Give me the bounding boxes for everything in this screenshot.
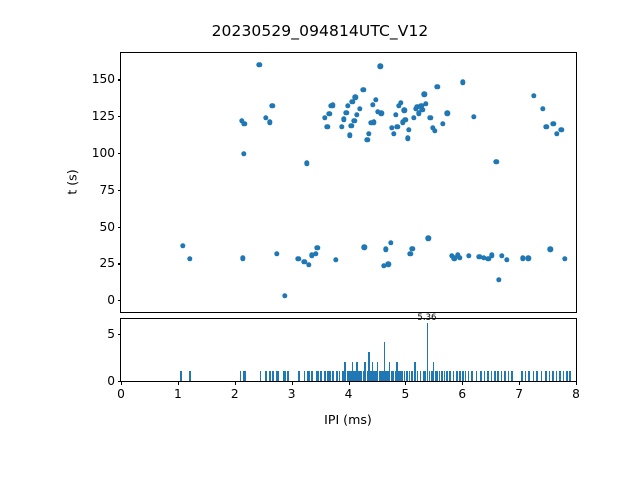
scatter-point	[388, 240, 393, 245]
histogram-bar	[504, 371, 506, 381]
histogram-bar	[189, 371, 191, 381]
histogram-bar	[339, 371, 341, 381]
histogram-bar	[494, 371, 496, 381]
y-tick-mark	[118, 190, 122, 191]
scatter-point	[326, 111, 331, 116]
scatter-point	[420, 107, 425, 112]
scatter-point	[180, 243, 185, 248]
scatter-point	[366, 131, 371, 136]
histogram-bar	[559, 371, 561, 381]
figure-title: 20230529_094814UTC_V12	[0, 22, 640, 40]
histogram-bar	[277, 371, 279, 381]
scatter-point	[471, 114, 476, 119]
x-tick-label: 8	[572, 387, 580, 401]
histogram-bar	[536, 371, 538, 381]
scatter-point	[494, 159, 499, 164]
scatter-point	[489, 253, 494, 258]
scatter-point	[408, 251, 413, 256]
histogram-bar	[476, 371, 478, 381]
histogram-bar	[533, 371, 535, 381]
scatter-point	[548, 247, 553, 252]
scatter-point	[270, 103, 275, 108]
scatter-point	[379, 111, 384, 116]
scatter-point	[445, 111, 450, 116]
scatter-point	[365, 137, 370, 142]
histogram-bar	[471, 371, 473, 381]
scatter-point	[373, 97, 378, 102]
histogram-bar	[468, 371, 470, 381]
histogram-bar	[406, 371, 408, 381]
matplotlib-figure: 20230529_094814UTC_V12 0255075100125150 …	[0, 0, 640, 480]
scatter-point	[240, 256, 245, 261]
histogram-bar	[491, 371, 493, 381]
scatter-point	[187, 256, 192, 261]
histogram-bar	[487, 371, 489, 381]
scatter-point	[353, 94, 358, 99]
scatter-point	[241, 151, 246, 156]
y-tick-label: 75	[99, 183, 115, 197]
scatter-point	[378, 64, 383, 69]
scatter-point	[371, 119, 376, 124]
histogram-bar	[563, 371, 565, 381]
x-tick-label: 4	[345, 387, 353, 401]
scatter-point	[411, 115, 416, 120]
y-tick-label: 50	[99, 220, 115, 234]
scatter-point	[559, 127, 564, 132]
scatter-point	[395, 124, 400, 129]
scatter-point	[313, 251, 318, 256]
histogram-bar	[446, 371, 448, 381]
histogram-bar	[566, 371, 568, 381]
scatter-point	[370, 102, 375, 107]
y-tick-mark	[118, 227, 122, 228]
scatter-point	[504, 257, 509, 262]
scatter-point	[306, 262, 311, 267]
scatter-point	[405, 136, 410, 141]
histogram-bar	[556, 371, 558, 381]
histogram-bar	[320, 371, 322, 381]
histogram-bar	[287, 371, 289, 381]
scatter-point	[339, 124, 344, 129]
y-tick-mark	[118, 300, 122, 301]
scatter-plot-axes: 0255075100125150	[120, 52, 577, 313]
y-tick-mark	[118, 153, 122, 154]
histogram-bar	[265, 371, 267, 381]
histogram-bar	[528, 371, 530, 381]
scatter-point	[423, 101, 428, 106]
histogram-bar	[511, 371, 513, 381]
scatter-point	[402, 108, 407, 113]
y-tick-label: 25	[99, 256, 115, 270]
histogram-bar	[324, 371, 326, 381]
x-tick-label: 7	[515, 387, 523, 401]
scatter-point	[350, 99, 355, 104]
scatter-point	[406, 127, 411, 132]
histogram-axes: 05012345678	[120, 318, 577, 382]
scatter-point	[457, 255, 462, 260]
scatter-point	[554, 131, 559, 136]
y-tick-mark	[118, 79, 122, 80]
histogram-bar	[414, 362, 416, 381]
y-tick-label: 150	[92, 72, 115, 86]
x-tick-mark	[349, 381, 350, 385]
histogram-bar	[465, 371, 467, 381]
scatter-point	[296, 256, 301, 261]
scatter-point	[389, 125, 394, 130]
x-axis-label: IPI (ms)	[324, 412, 372, 427]
y-tick-label: 125	[92, 109, 115, 123]
y-tick-mark	[118, 116, 122, 117]
histogram-bar	[521, 371, 523, 381]
scatter-point	[357, 106, 362, 111]
scatter-point	[409, 246, 414, 251]
histogram-bar	[304, 371, 306, 381]
scatter-point	[496, 277, 501, 282]
x-tick-mark	[121, 381, 122, 385]
scatter-point	[351, 118, 356, 123]
histogram-bar	[462, 371, 464, 381]
histogram-bar	[272, 371, 274, 381]
x-tick-label: 2	[231, 387, 239, 401]
histogram-bars-layer	[121, 319, 576, 381]
histogram-bar	[298, 371, 300, 381]
histogram-bar	[484, 371, 486, 381]
scatter-point	[391, 131, 396, 136]
y-tick-mark	[118, 263, 122, 264]
histogram-bar	[501, 371, 503, 381]
histogram-bar	[459, 371, 461, 381]
scatter-point	[383, 247, 388, 252]
histogram-bar	[311, 371, 313, 381]
histogram-bar	[497, 371, 499, 381]
histogram-bar	[420, 371, 422, 381]
scatter-point	[354, 112, 359, 117]
scatter-point	[531, 93, 536, 98]
x-tick-mark	[405, 381, 406, 385]
scatter-point	[520, 256, 525, 261]
scatter-point	[562, 256, 567, 261]
scatter-point	[386, 261, 391, 266]
histogram-bar	[180, 371, 182, 381]
scatter-point	[466, 253, 471, 258]
scatter-point	[526, 256, 531, 261]
scatter-point	[274, 251, 279, 256]
histogram-bar	[417, 371, 419, 381]
x-tick-label: 6	[458, 387, 466, 401]
scatter-point	[330, 103, 335, 108]
x-tick-mark	[462, 381, 463, 385]
histogram-bar	[552, 371, 554, 381]
histogram-bar	[439, 371, 441, 381]
x-tick-label: 3	[288, 387, 296, 401]
histogram-bar	[569, 371, 571, 381]
scatter-point	[344, 110, 349, 115]
scatter-point	[432, 128, 437, 133]
scatter-point	[440, 121, 445, 126]
histogram-bar	[525, 371, 527, 381]
peak-ipi-annotation: 5.36	[417, 313, 436, 323]
scatter-points-layer	[121, 53, 576, 312]
scatter-point	[551, 121, 556, 126]
scatter-point	[540, 106, 545, 111]
hist-y-tick-label: 0	[107, 374, 115, 388]
histogram-bar	[317, 371, 319, 381]
histogram-bar	[240, 371, 242, 381]
y-tick-label: 100	[92, 146, 115, 160]
histogram-bar	[269, 371, 271, 381]
scatter-point	[333, 257, 338, 262]
histogram-bar	[456, 371, 458, 381]
x-tick-mark	[178, 381, 179, 385]
scatter-point	[341, 117, 346, 122]
y-tick-label: 0	[107, 293, 115, 307]
scatter-point	[257, 62, 262, 67]
scatter-point	[304, 161, 309, 166]
scatter-point	[544, 124, 549, 129]
scatter-point	[435, 84, 440, 89]
y-axis-label: t (s)	[65, 169, 80, 194]
hist-y-tick-label: 5	[107, 327, 115, 341]
histogram-bar	[549, 371, 551, 381]
scatter-point	[361, 87, 366, 92]
x-tick-label: 0	[117, 387, 125, 401]
scatter-point	[347, 133, 352, 138]
hist-y-tick-mark	[118, 334, 122, 335]
scatter-point	[398, 100, 403, 105]
scatter-point	[282, 293, 287, 298]
histogram-bar	[411, 371, 413, 381]
scatter-point	[460, 80, 465, 85]
scatter-point	[345, 103, 350, 108]
histogram-bar	[453, 371, 455, 381]
histogram-bar	[541, 371, 543, 381]
scatter-point	[349, 123, 354, 128]
x-tick-mark	[235, 381, 236, 385]
histogram-bar	[449, 371, 451, 381]
scatter-point	[362, 245, 367, 250]
x-tick-label: 1	[174, 387, 182, 401]
scatter-point	[403, 117, 408, 122]
histogram-bar	[508, 371, 510, 381]
histogram-bar	[260, 371, 262, 381]
x-tick-mark	[576, 381, 577, 385]
histogram-bar	[244, 371, 246, 381]
x-tick-label: 5	[401, 387, 409, 401]
x-tick-mark	[519, 381, 520, 385]
histogram-bar	[333, 371, 335, 381]
scatter-point	[315, 245, 320, 250]
scatter-point	[425, 236, 430, 241]
histogram-bar	[480, 371, 482, 381]
scatter-point	[267, 119, 272, 124]
x-tick-mark	[292, 381, 293, 385]
histogram-bar	[545, 371, 547, 381]
scatter-point	[393, 112, 398, 117]
scatter-point	[325, 124, 330, 129]
scatter-point	[428, 115, 433, 120]
scatter-point	[421, 92, 426, 97]
